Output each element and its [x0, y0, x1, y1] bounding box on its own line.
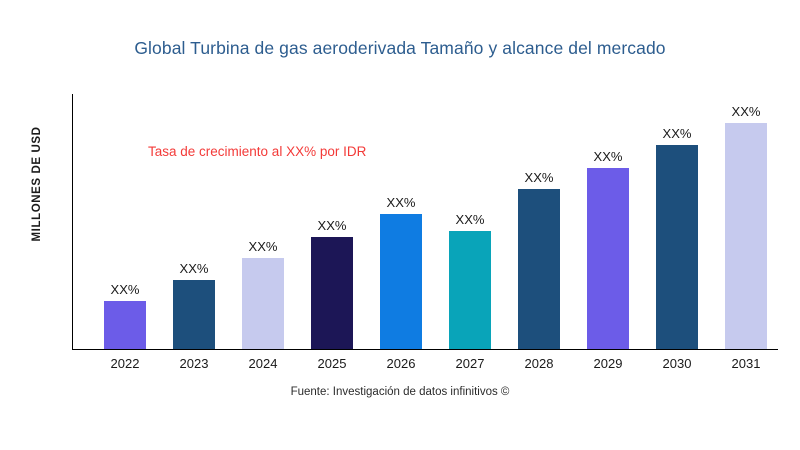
y-axis-title: MILLONES DE USD	[31, 59, 43, 309]
bar-value-label-2030: XX%	[642, 126, 712, 141]
x-tick-2023: 2023	[159, 356, 229, 371]
x-tick-2028: 2028	[504, 356, 574, 371]
bar-value-label-2029: XX%	[573, 149, 643, 164]
x-axis-line	[72, 349, 778, 350]
bar-2027[interactable]	[449, 231, 491, 349]
plot-area: XX%XX%XX%XX%XX%XX%XX%XX%XX%XX%	[72, 94, 778, 350]
x-tick-2031: 2031	[711, 356, 781, 371]
bar-value-label-2031: XX%	[711, 104, 781, 119]
x-tick-2025: 2025	[297, 356, 367, 371]
bar-2023[interactable]	[173, 280, 215, 349]
chart-title: Global Turbina de gas aeroderivada Tamañ…	[0, 38, 800, 59]
bar-value-label-2025: XX%	[297, 218, 367, 233]
bar-2026[interactable]	[380, 214, 422, 349]
bar-value-label-2026: XX%	[366, 195, 436, 210]
bar-value-label-2024: XX%	[228, 239, 298, 254]
bar-2031[interactable]	[725, 123, 767, 349]
bar-2022[interactable]	[104, 301, 146, 348]
x-tick-2030: 2030	[642, 356, 712, 371]
bar-value-label-2028: XX%	[504, 170, 574, 185]
bar-value-label-2027: XX%	[435, 212, 505, 227]
x-tick-2024: 2024	[228, 356, 298, 371]
bar-2029[interactable]	[587, 168, 629, 348]
x-tick-2027: 2027	[435, 356, 505, 371]
bar-2030[interactable]	[656, 145, 698, 349]
x-tick-2022: 2022	[90, 356, 160, 371]
bar-2024[interactable]	[242, 258, 284, 349]
bar-2025[interactable]	[311, 237, 353, 348]
x-tick-2026: 2026	[366, 356, 436, 371]
bar-value-label-2022: XX%	[90, 282, 160, 297]
x-tick-2029: 2029	[573, 356, 643, 371]
bar-value-label-2023: XX%	[159, 261, 229, 276]
bar-2028[interactable]	[518, 189, 560, 349]
growth-rate-annotation: Tasa de crecimiento al XX% por IDR	[148, 144, 366, 159]
source-note: Fuente: Investigación de datos infinitiv…	[0, 386, 800, 398]
y-axis-line	[72, 94, 73, 350]
bar-chart: Global Turbina de gas aeroderivada Tamañ…	[0, 0, 800, 450]
